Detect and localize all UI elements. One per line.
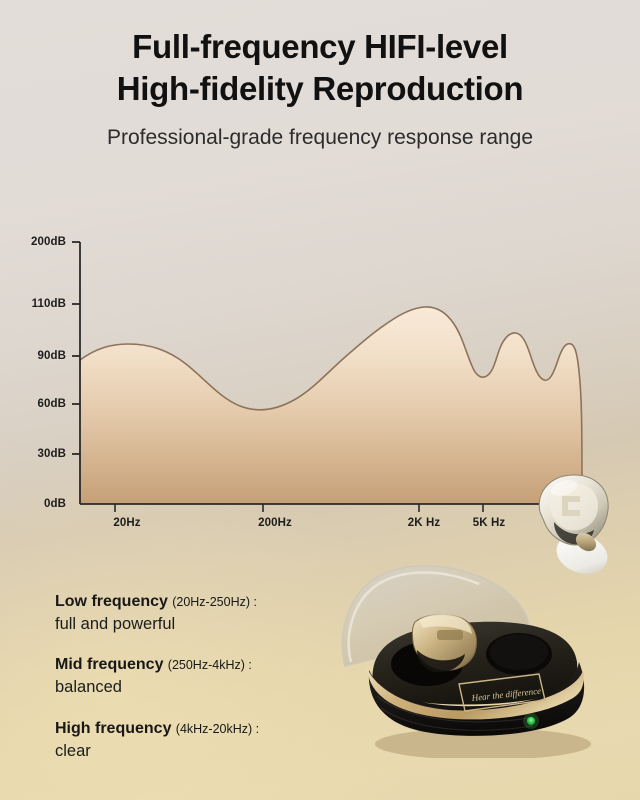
feature-heading: High frequency (4kHz-20kHz) : (55, 719, 375, 739)
feature-title: Mid frequency (55, 656, 163, 673)
feature-range: (4kHz-20kHz) : (176, 722, 259, 736)
feature-low-frequency: Low frequency (20Hz-250Hz) : full and po… (55, 592, 375, 635)
header: Full-frequency HIFI-level High-fidelity … (0, 26, 640, 150)
feature-high-frequency: High frequency (4kHz-20kHz) : clear (55, 719, 375, 762)
case-status-led-glow (523, 713, 539, 729)
seated-bud-detail (437, 630, 463, 640)
y-axis-label-0db: 0dB (8, 498, 66, 510)
feature-heading: Mid frequency (250Hz-4kHz) : (55, 655, 375, 675)
feature-range: (250Hz-4kHz) : (168, 658, 252, 672)
x-axis-label-20hz: 20Hz (113, 517, 140, 529)
case-seated-earbud (412, 614, 476, 672)
y-axis-label-200db: 200dB (8, 236, 66, 248)
feature-heading: Low frequency (20Hz-250Hz) : (55, 592, 375, 612)
page-subtitle: Professional-grade frequency response ra… (0, 126, 640, 150)
chart-series-area (80, 307, 582, 504)
feature-range: (20Hz-250Hz) : (172, 595, 257, 609)
feature-description: balanced (55, 677, 375, 698)
y-axis-label-90db: 90dB (8, 350, 66, 362)
x-axis-label-5khz: 5K Hz (473, 517, 505, 529)
y-axis-label-110db: 110dB (8, 298, 66, 310)
page-title: Full-frequency HIFI-level High-fidelity … (0, 26, 640, 110)
feature-description: full and powerful (55, 614, 375, 635)
x-axis-label-2khz: 2K Hz (408, 517, 440, 529)
charging-case-product-image: Hear the difference (333, 558, 615, 758)
y-axis-label-60db: 60dB (8, 398, 66, 410)
feature-title: Low frequency (55, 593, 168, 610)
y-axis-label-30db: 30dB (8, 448, 66, 460)
x-axis-label-200hz: 200Hz (258, 517, 292, 529)
feature-title: High frequency (55, 720, 171, 737)
feature-mid-frequency: Mid frequency (250Hz-4kHz) : balanced (55, 655, 375, 698)
title-line-2: High-fidelity Reproduction (0, 68, 640, 110)
title-line-1: Full-frequency HIFI-level (0, 26, 640, 68)
case-cradle-right-inner (490, 634, 548, 670)
feature-list: Low frequency (20Hz-250Hz) : full and po… (55, 592, 375, 782)
feature-description: clear (55, 741, 375, 762)
